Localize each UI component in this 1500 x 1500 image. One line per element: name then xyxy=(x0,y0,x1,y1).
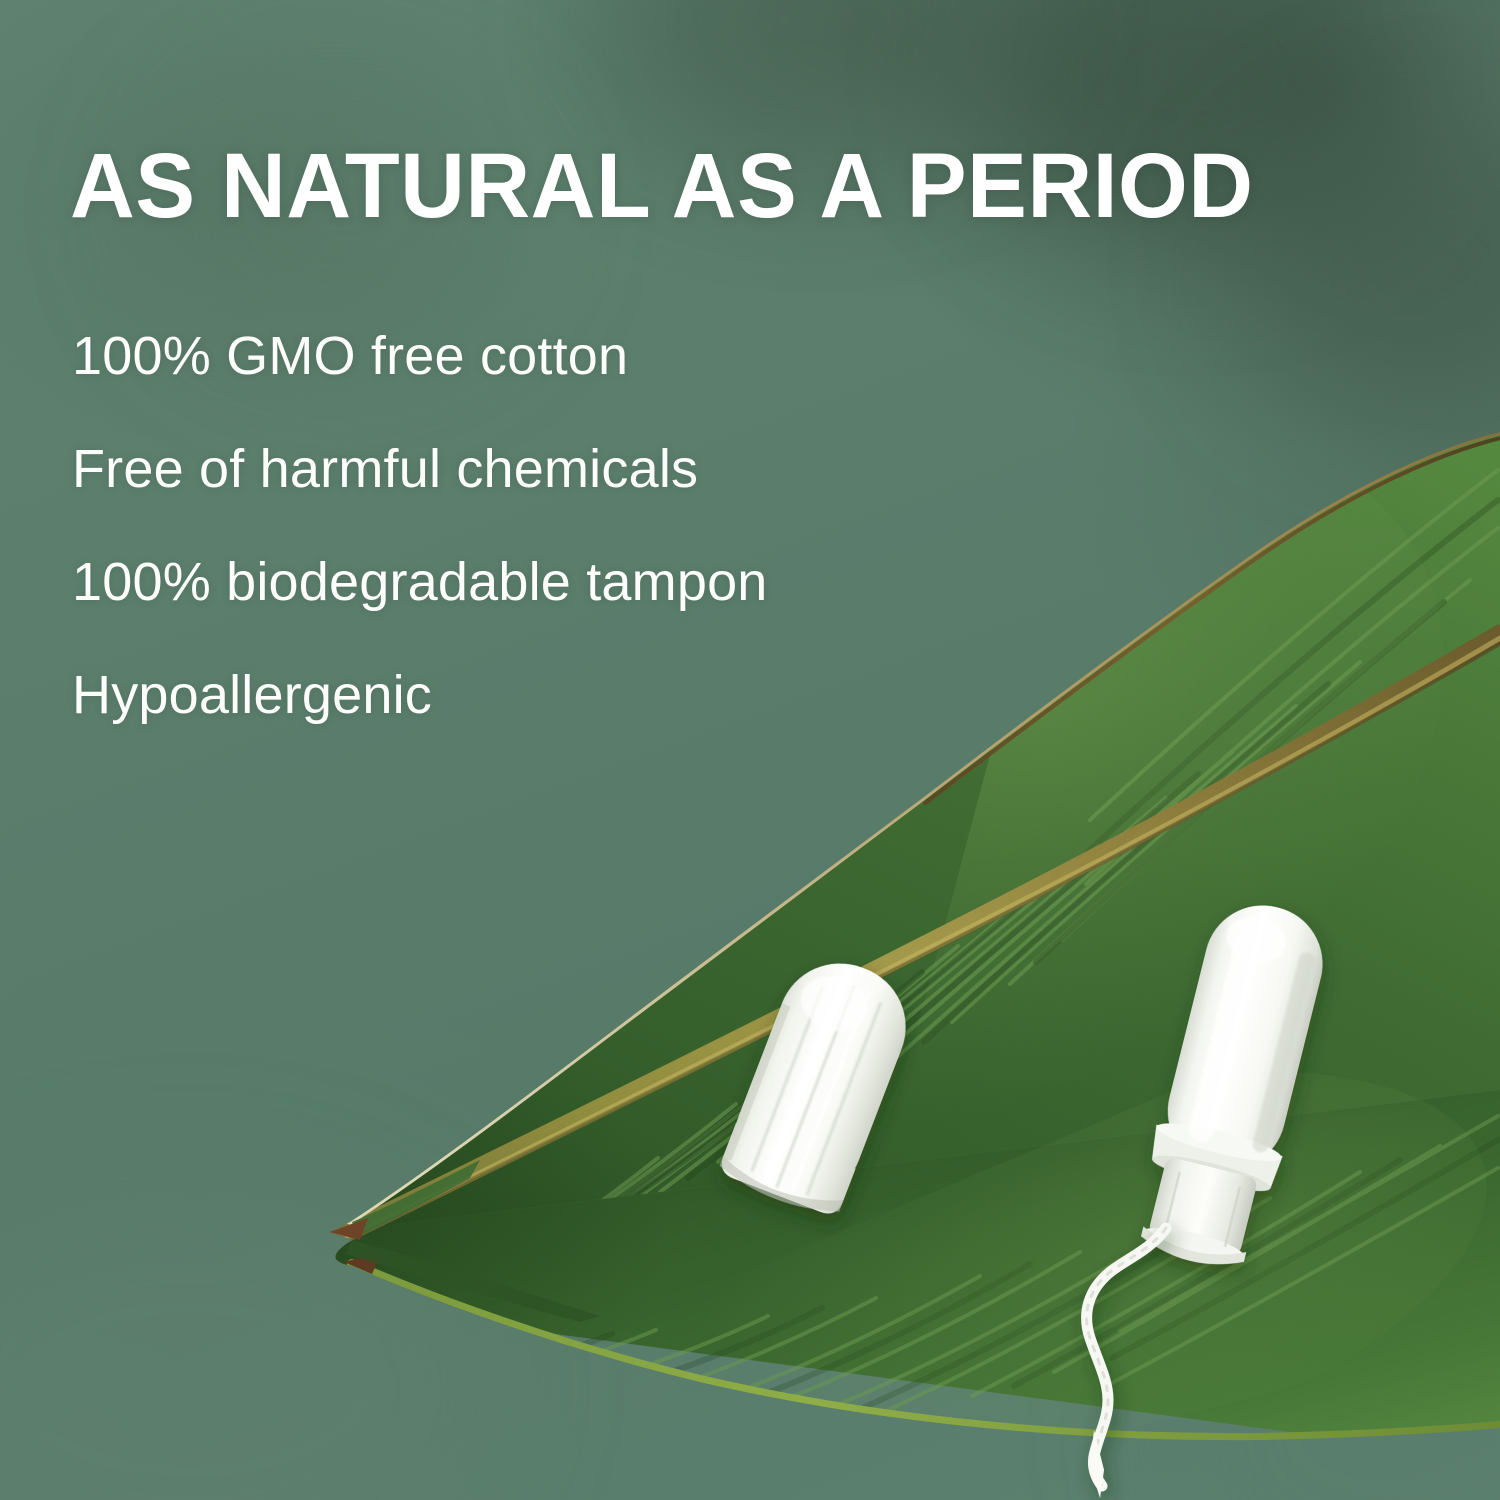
list-item: 100% biodegradable tampon xyxy=(72,526,972,639)
product-marketing-image: AS NATURAL AS A PERIOD 100% GMO free cot… xyxy=(0,0,1500,1500)
list-item: Free of harmful chemicals xyxy=(72,413,972,526)
text-overlay: AS NATURAL AS A PERIOD 100% GMO free cot… xyxy=(0,0,1500,1500)
page-title: AS NATURAL AS A PERIOD xyxy=(70,140,1254,232)
feature-list: 100% GMO free cotton Free of harmful che… xyxy=(72,300,972,752)
list-item: 100% GMO free cotton xyxy=(72,300,972,413)
list-item: Hypoallergenic xyxy=(72,639,972,752)
